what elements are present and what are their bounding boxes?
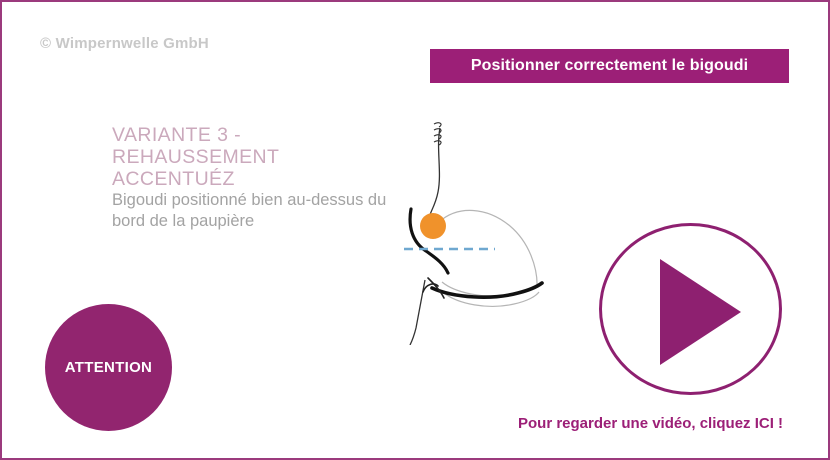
body-text: Bigoudi positionné bien au-dessus du bor… (112, 190, 412, 231)
watch-video-link[interactable]: Pour regarder une vidéo, cliquez ICI ! (518, 415, 783, 432)
page-title: VARIANTE 3 - REHAUSSEMENT ACCENTUÉZ (112, 125, 397, 190)
lash-tip-squiggles-icon (434, 123, 441, 145)
copyright-notice: © Wimpernwelle GmbH (40, 35, 209, 52)
play-triangle-icon (660, 259, 741, 365)
lower-lash-line (432, 283, 542, 297)
slide-canvas: © Wimpernwelle GmbH Positionner correcte… (0, 0, 830, 460)
section-banner: Positionner correctement le bigoudi (430, 49, 789, 83)
attention-badge-label: ATTENTION (65, 359, 152, 376)
curler-dot-icon (420, 213, 446, 239)
attention-badge: ATTENTION (45, 304, 172, 431)
eye-profile-diagram (392, 110, 582, 345)
play-video-button[interactable] (599, 223, 782, 395)
section-banner-label: Positionner correctement le bigoudi (471, 57, 748, 75)
